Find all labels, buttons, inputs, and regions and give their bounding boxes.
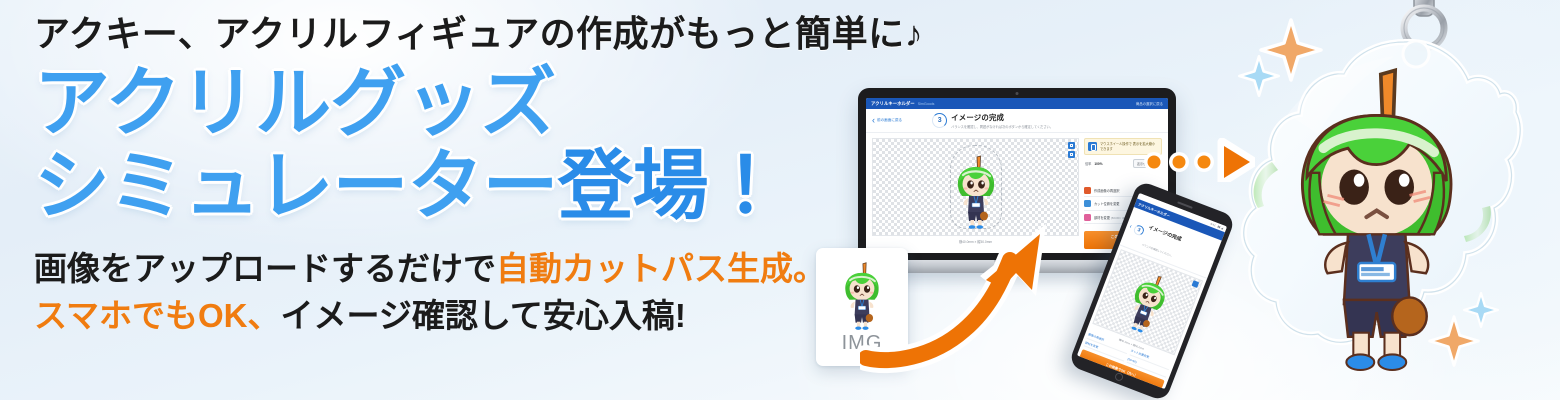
zoom-value: 100%: [1094, 162, 1102, 166]
banner-kicker: アクキー、アクリルフィギュアの作成がもっと簡単に♪: [34, 12, 864, 55]
step-number-badge: 3: [932, 113, 947, 128]
chibi-character-icon: [837, 260, 887, 330]
tip-box: マウスホイール操作で 表示を拡大縮小できます: [1084, 138, 1162, 155]
copy-block: アクキー、アクリルフィギュアの作成がもっと簡単に♪ アクリルグッズ シミュレータ…: [34, 12, 864, 340]
canvas-tools[interactable]: [1068, 142, 1075, 158]
headline-line-1-text: アクリルグッズ: [34, 61, 555, 146]
phone-character-preview: [1116, 265, 1179, 339]
app-brand-sub: SimGoods: [918, 102, 935, 106]
chevron-left-icon: ‹: [872, 116, 875, 125]
app-brand: アクリルキーホルダー SimGoods: [871, 101, 934, 107]
side-menu-label-2-text: 部材を変更: [1094, 216, 1110, 220]
zoom-label: 倍率: [1085, 161, 1091, 166]
subcopy-2-b: イメージ確認して安心入稿!: [281, 297, 686, 334]
canvas-size-caption: 横40.0mm × 縦50.0mm: [872, 239, 1079, 244]
phone-step-text: イメージの完成 バランスを確認してください。: [1140, 216, 1185, 262]
subcopy-line-2: スマホでもOK、イメージ確認して安心入稿!: [34, 293, 864, 340]
back-button[interactable]: ‹ 前の画面に戻る: [872, 116, 902, 125]
tip-text: マウスホイール操作で 表示を拡大縮小できます: [1100, 142, 1158, 151]
subcopy-2-a: スマホでもOK、: [34, 297, 281, 334]
step-title: イメージの完成: [951, 112, 1053, 123]
headline-line-2: シミュレーター登場！: [34, 150, 864, 224]
headline-line-2-a: シミュレーター: [34, 144, 557, 229]
preview-canvas[interactable]: [872, 138, 1079, 236]
back-button-label: 前の画面に戻る: [877, 118, 902, 123]
headline-line-2-b: 登場！: [557, 144, 782, 229]
phone-chevron-left-icon[interactable]: ‹: [1128, 224, 1132, 230]
subcopy-line-1: 画像をアップロードするだけで自動カットパス生成。: [34, 246, 864, 293]
cut-position-icon: [1084, 200, 1091, 207]
mouse-tip-icon: [1088, 142, 1097, 151]
step-indicator: 3 イメージの完成 バランスを確認し、問題がなければ次のボタンから確定してくださ…: [932, 112, 1053, 130]
img-card-label: IMG: [842, 332, 883, 355]
phone-step-description: バランスを確認してください。: [1141, 243, 1173, 258]
app-account-link[interactable]: 商品の選択に戻る: [1136, 101, 1163, 106]
character-preview: [949, 153, 1003, 229]
change-material-icon: [1084, 214, 1091, 221]
side-menu-label-0: 作成画像の再選択: [1094, 188, 1120, 193]
step-text: イメージの完成 バランスを確認し、問題がなければ次のボタンから確定してください。: [951, 112, 1053, 130]
phone-step-number-badge: 3: [1132, 224, 1145, 237]
banner-headline: アクリルグッズ シミュレーター登場！: [34, 67, 864, 224]
banner-subcopy: 画像をアップロードするだけで自動カットパス生成。 スマホでもOK、イメージ確認し…: [34, 246, 864, 340]
app-header-bar: アクリルキーホルダー SimGoods 商品の選択に戻る: [866, 98, 1168, 109]
app-step-header: ‹ 前の画面に戻る 3 イメージの完成 バランスを確認し、問題がなければ次のボタ…: [866, 109, 1168, 133]
zoom-out-icon[interactable]: [1068, 151, 1075, 158]
phone-zoom-tool-icon[interactable]: [1191, 280, 1199, 288]
headline-line-1: アクリルグッズ: [34, 67, 864, 141]
app-brand-name: アクリルキーホルダー: [871, 101, 915, 107]
zoom-reset-button[interactable]: 表示をリセット: [1133, 159, 1162, 168]
subcopy-1-b: 自動カットパス生成。: [496, 250, 826, 287]
chibi-character-icon: [949, 153, 1003, 229]
chibi-character-icon: [1116, 265, 1179, 339]
laptop-notch: [994, 260, 1040, 264]
phone-step-title: イメージの完成: [1147, 225, 1182, 243]
acrylic-keychain-product: [1218, 0, 1560, 400]
img-upload-card[interactable]: IMG: [816, 248, 908, 366]
promo-banner: アクキー、アクリルフィギュアの作成がもっと簡単に♪ アクリルグッズ シミュレータ…: [0, 0, 1560, 400]
side-menu-label-1: カット位置を変更: [1094, 201, 1120, 206]
subcopy-1-a: 画像をアップロードするだけで: [34, 250, 496, 287]
device-cluster: アクリルキーホルダー SimGoods 商品の選択に戻る ‹ 前の画面に戻る 3: [800, 0, 1270, 400]
canvas-column: 横40.0mm × 縦50.0mm: [872, 138, 1079, 249]
img-card-character: [837, 260, 887, 330]
step-description: バランスを確認し、問題がなければ次のボタンから確定してください。: [951, 124, 1053, 129]
zoom-in-icon[interactable]: [1068, 142, 1075, 149]
reselect-image-icon: [1084, 187, 1091, 194]
webcam-icon: [1016, 92, 1019, 95]
zoom-row: 倍率 100% 表示をリセット: [1084, 159, 1162, 168]
